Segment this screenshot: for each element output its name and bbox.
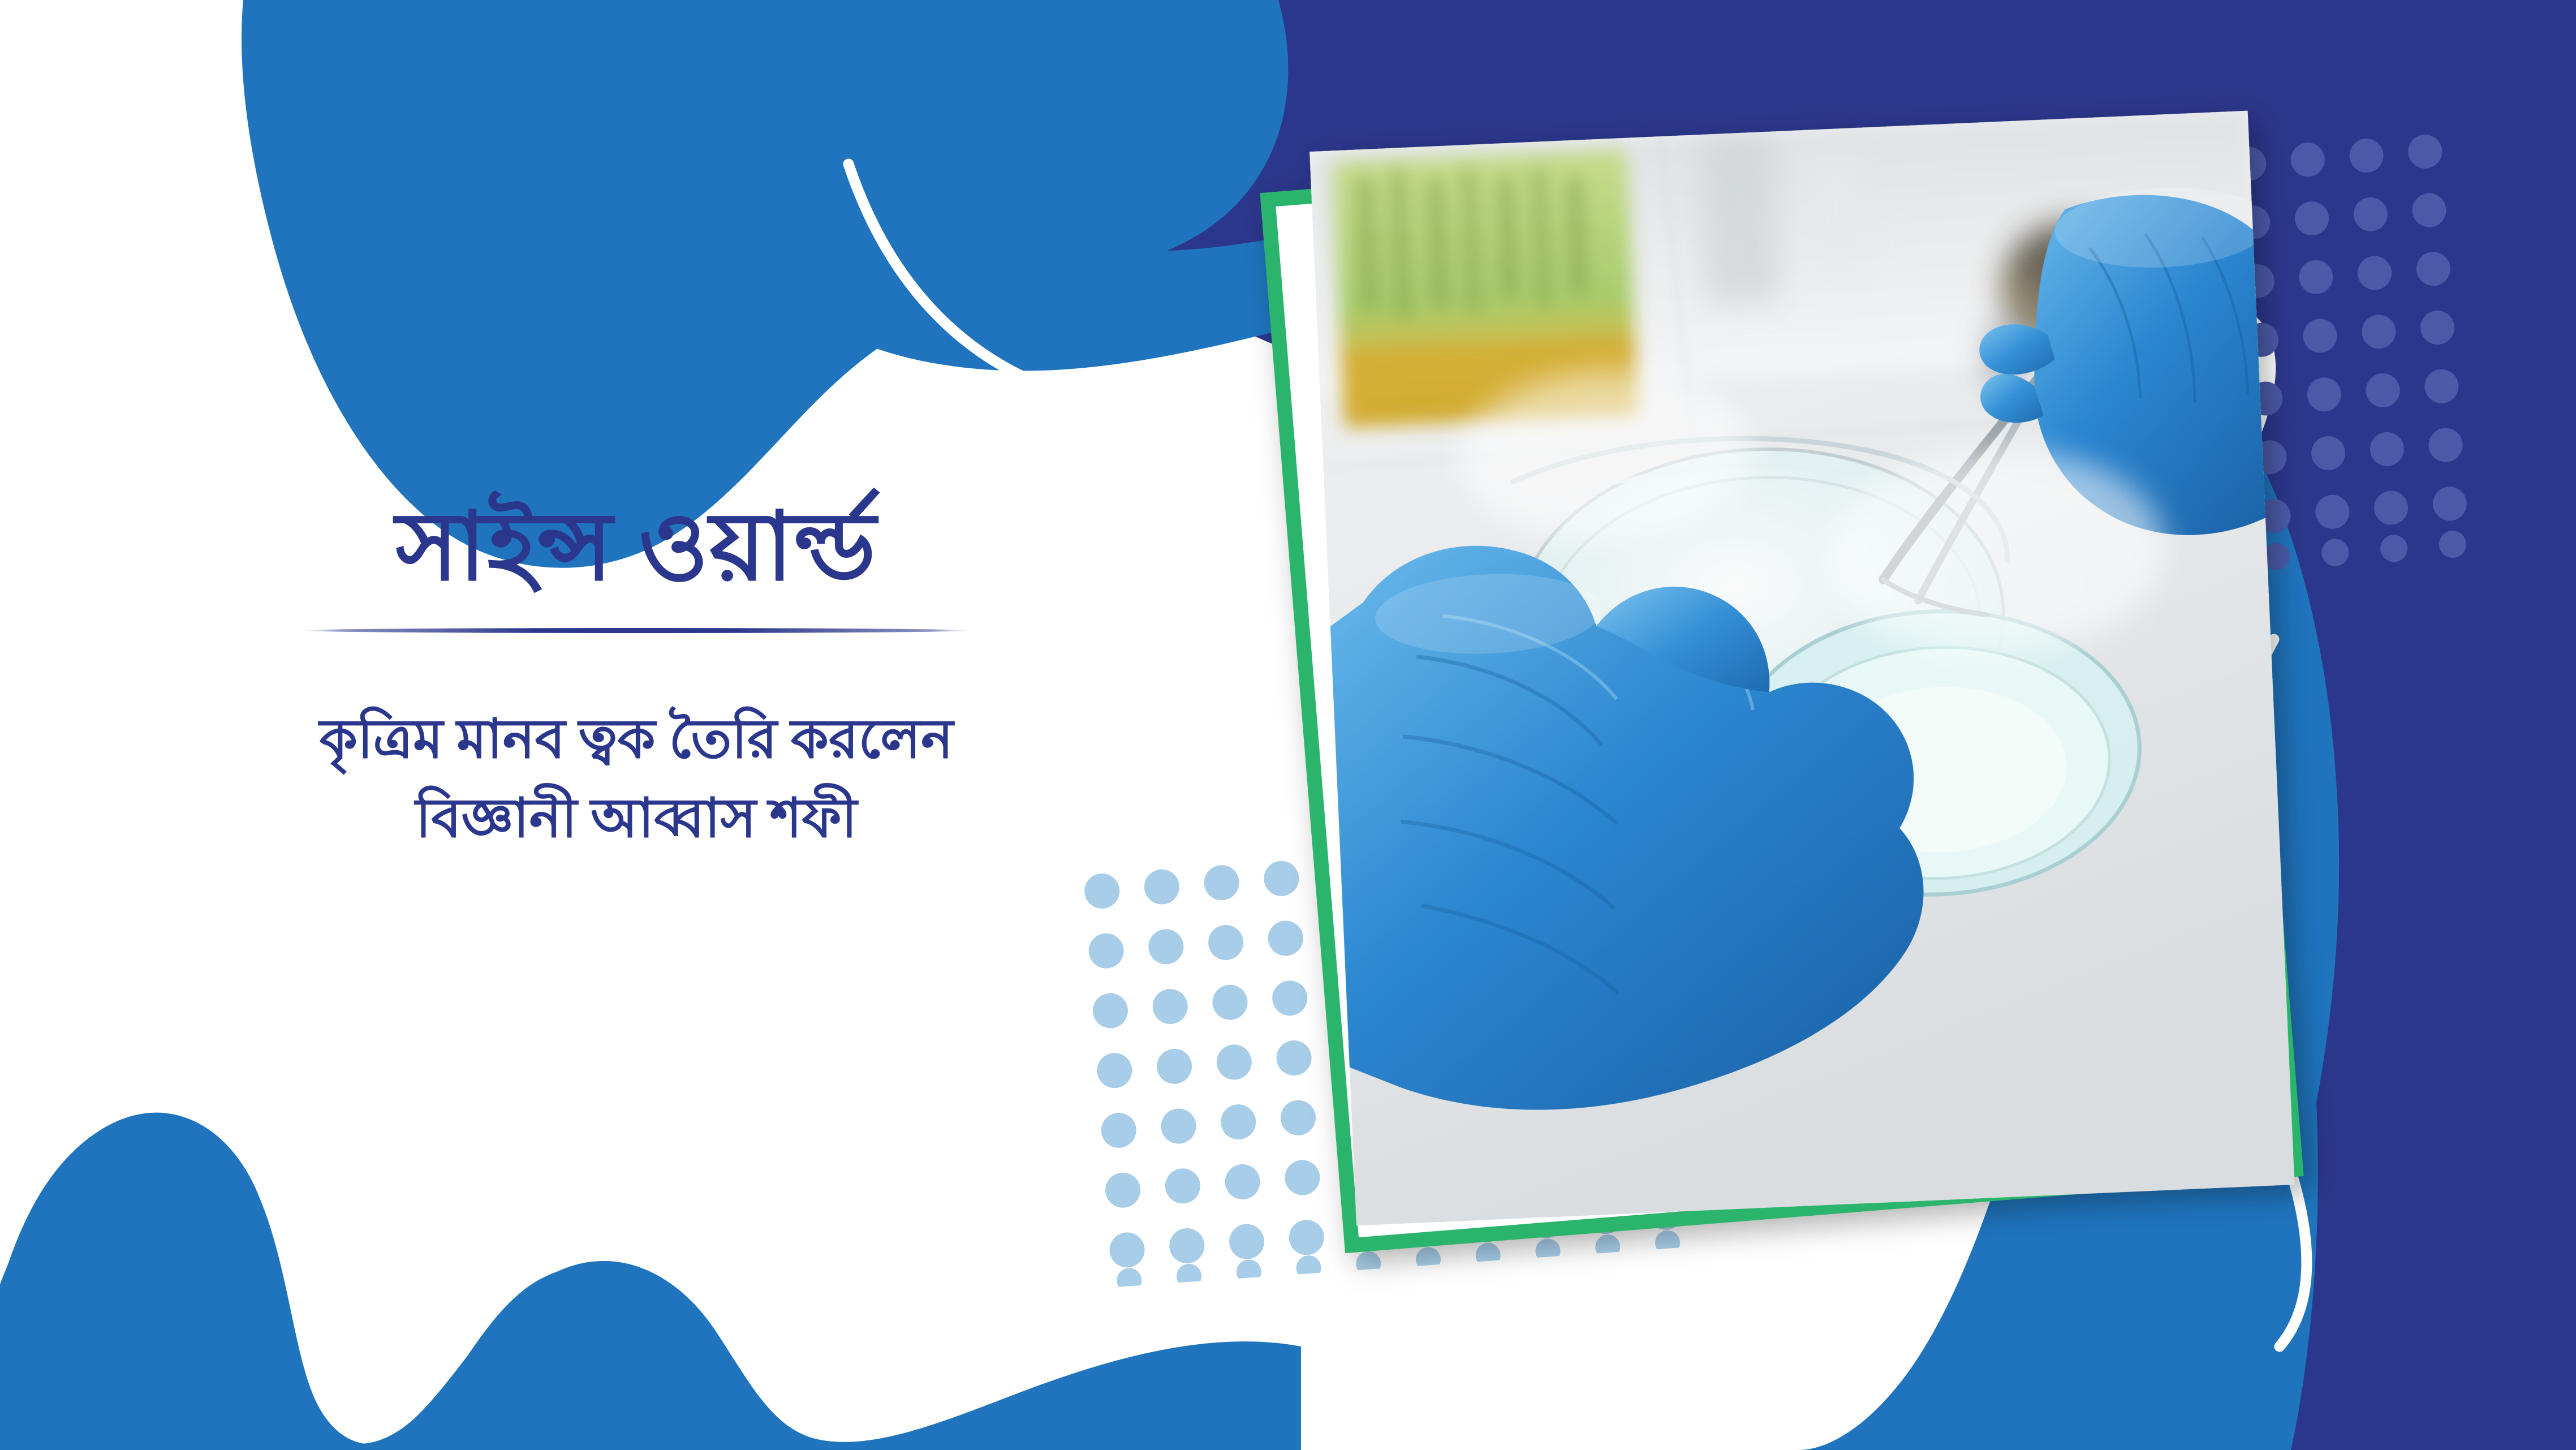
subtitle-line-1: কৃত্রিম মানব ত্বক তৈরি করলেন	[170, 700, 1103, 778]
subtitle-line-2: বিজ্ঞানী আব্বাস শফী	[170, 779, 1103, 858]
photo-image-lab-scene	[1309, 111, 2294, 1226]
title-divider	[303, 628, 970, 633]
subtitle: কৃত্রিম মানব ত্বক তৈরি করলেন বিজ্ঞানী আব…	[170, 700, 1103, 857]
page-title: সাইন্স ওয়ার্ল্ড	[170, 498, 1103, 597]
headline-block: সাইন্স ওয়ার্ল্ড কৃত্রিম মানব ত্বক তৈরি …	[170, 498, 1103, 858]
photo-card[interactable]	[1260, 116, 2303, 1253]
poster-canvas: সাইন্স ওয়ার্ল্ড কৃত্রিম মানব ত্বক তৈরি …	[0, 0, 2576, 1450]
